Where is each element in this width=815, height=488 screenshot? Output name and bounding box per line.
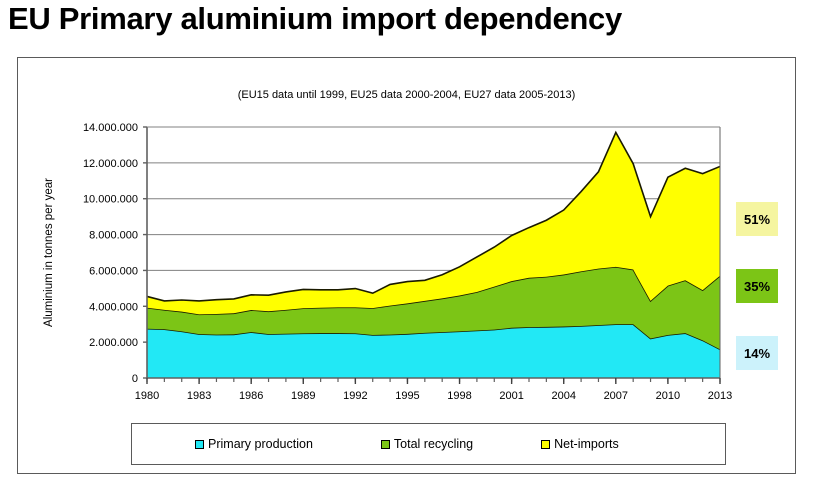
svg-text:2.000.000: 2.000.000	[89, 337, 138, 349]
svg-text:10.000.000: 10.000.000	[83, 194, 138, 206]
svg-text:1986: 1986	[239, 390, 263, 402]
svg-text:2010: 2010	[656, 390, 680, 402]
legend-label-net-imports: Net-imports	[554, 437, 619, 451]
chart-legend: Primary production Total recycling Net-i…	[131, 423, 726, 465]
svg-text:2007: 2007	[604, 390, 628, 402]
primary-production-share-box: 14%	[736, 336, 778, 370]
svg-text:0: 0	[132, 373, 138, 385]
legend-label-total-recycling: Total recycling	[394, 437, 473, 451]
legend-item-primary-production: Primary production	[195, 437, 313, 451]
svg-text:2013: 2013	[708, 390, 732, 402]
total-recycling-share-box: 35%	[736, 269, 778, 303]
svg-text:2001: 2001	[499, 390, 523, 402]
svg-text:1998: 1998	[447, 390, 471, 402]
page-title: EU Primary aluminium import dependency	[0, 0, 815, 36]
chart-frame: (EU15 data until 1999, EU25 data 2000-20…	[17, 57, 796, 474]
legend-label-primary-production: Primary production	[208, 437, 313, 451]
net-imports-share-value: 51%	[744, 212, 770, 227]
legend-swatch-total-recycling	[381, 440, 390, 449]
svg-text:8.000.000: 8.000.000	[89, 230, 138, 242]
svg-text:6.000.000: 6.000.000	[89, 265, 138, 277]
svg-text:1989: 1989	[291, 390, 315, 402]
legend-swatch-primary-production	[195, 440, 204, 449]
net-imports-share-box: 51%	[736, 202, 778, 236]
legend-item-net-imports: Net-imports	[541, 437, 619, 451]
svg-text:1995: 1995	[395, 390, 419, 402]
legend-item-total-recycling: Total recycling	[381, 437, 473, 451]
svg-text:14.000.000: 14.000.000	[83, 122, 138, 134]
svg-text:12.000.000: 12.000.000	[83, 158, 138, 170]
svg-text:2004: 2004	[551, 390, 575, 402]
svg-text:1980: 1980	[135, 390, 159, 402]
svg-text:4.000.000: 4.000.000	[89, 301, 138, 313]
svg-text:1983: 1983	[187, 390, 211, 402]
legend-swatch-net-imports	[541, 440, 550, 449]
total-recycling-share-value: 35%	[744, 279, 770, 294]
primary-production-share-value: 14%	[744, 346, 770, 361]
svg-text:1992: 1992	[343, 390, 367, 402]
stacked-area-chart: 02.000.0004.000.0006.000.0008.000.00010.…	[18, 58, 797, 475]
y-axis-label: Aluminium in tonnes per year	[43, 178, 55, 327]
